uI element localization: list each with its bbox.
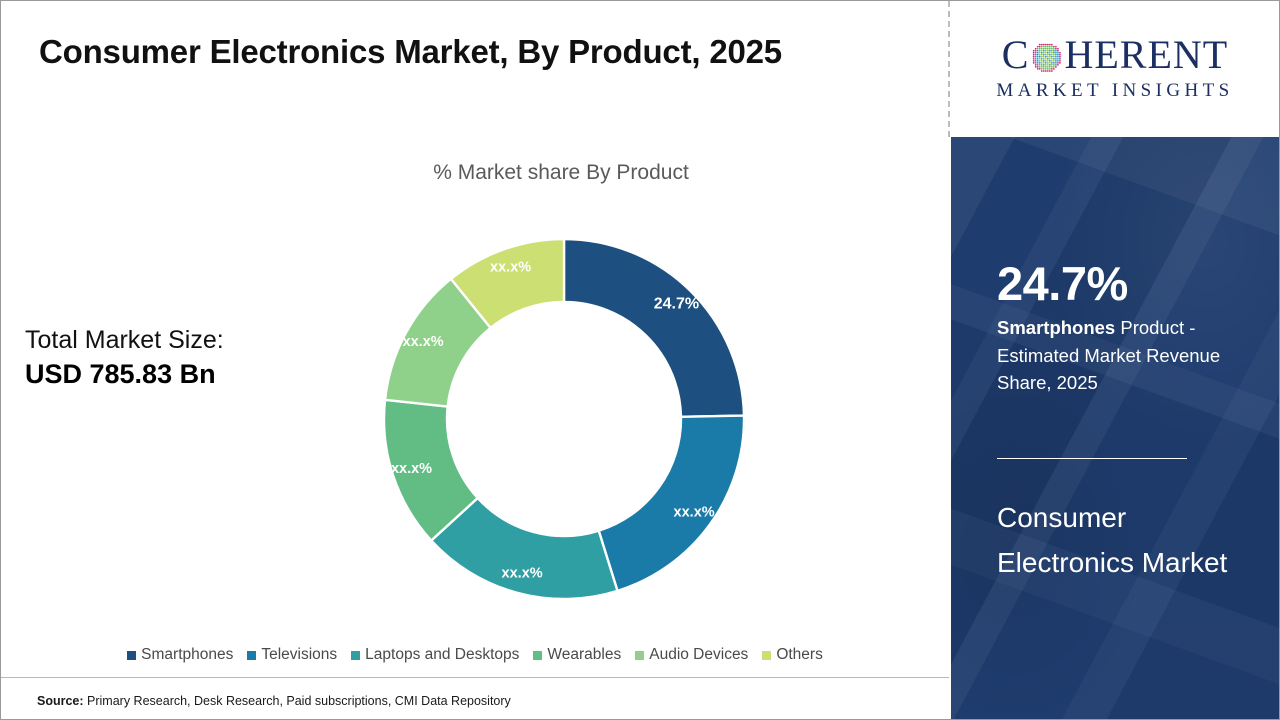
donut-slice-label: xx.x% [674,505,715,521]
donut-chart: 24.7%xx.x%xx.x%xx.x%xx.x%xx.x% [379,223,749,615]
legend-swatch-icon [533,651,542,660]
page-title: Consumer Electronics Market, By Product,… [39,33,919,71]
legend-swatch-icon [762,651,771,660]
highlight-stat-block: 24.7% Smartphones Product - Estimated Ma… [997,259,1247,396]
highlight-stat-percent: 24.7% [997,259,1247,308]
legend-swatch-icon [635,651,644,660]
source-label: Source: [37,694,84,708]
logo-word-rest: HERENT [1064,35,1228,75]
legend-item[interactable]: Wearables [533,646,621,664]
chart-pane: Consumer Electronics Market, By Product,… [1,1,949,719]
legend-item-label: Audio Devices [649,646,748,664]
donut-slice-label: xx.x% [391,461,432,477]
infographic-page: Consumer Electronics Market, By Product,… [0,0,1280,720]
legend-item[interactable]: Audio Devices [635,646,748,664]
vertical-dashed-divider [948,1,950,137]
sidebar-market-name: Consumer Electronics Market [997,496,1237,586]
donut-slice-label: xx.x% [490,260,531,276]
legend-item-label: Smartphones [141,646,233,664]
footer-divider [1,677,949,678]
legend-item[interactable]: Smartphones [127,646,233,664]
legend-item[interactable]: Others [762,646,823,664]
donut-slice-group [384,239,744,599]
logo-wordmark: C HERENT [1002,35,1228,75]
highlight-stat-caption-bold: Smartphones [997,317,1115,338]
legend-item[interactable]: Televisions [247,646,337,664]
legend-item[interactable]: Laptops and Desktops [351,646,519,664]
sidebar-background-texture [951,137,1279,719]
donut-slice[interactable] [564,239,744,417]
chart-legend: SmartphonesTelevisionsLaptops and Deskto… [1,646,949,664]
legend-swatch-icon [127,651,136,660]
sidebar-horizontal-rule [997,458,1187,459]
sidebar: C HERENT MARKET INSIGHTS 24.7% Smartphon… [951,1,1279,719]
donut-slice-label: 24.7% [654,296,699,313]
source-line: Source: Primary Research, Desk Research,… [37,694,511,708]
chart-subtitle: % Market share By Product [311,161,811,185]
logo-letter-c: C [1002,35,1030,75]
legend-item-label: Others [776,646,823,664]
total-market-size-block: Total Market Size: USD 785.83 Bn [25,324,305,393]
source-text: Primary Research, Desk Research, Paid su… [87,694,511,708]
donut-chart-svg: 24.7%xx.x%xx.x%xx.x%xx.x%xx.x% [379,223,749,615]
highlight-stat-caption: Smartphones Product - Estimated Market R… [997,314,1247,396]
donut-slice[interactable] [599,416,744,591]
legend-item-label: Wearables [547,646,621,664]
legend-swatch-icon [351,651,360,660]
legend-swatch-icon [247,651,256,660]
legend-item-label: Televisions [261,646,337,664]
dotted-globe-icon [1030,41,1063,74]
legend-item-label: Laptops and Desktops [365,646,519,664]
donut-slice-label: xx.x% [502,566,543,582]
brand-logo[interactable]: C HERENT MARKET INSIGHTS [951,1,1279,136]
total-market-size-value: USD 785.83 Bn [25,357,305,393]
logo-tagline: MARKET INSIGHTS [996,80,1233,102]
sidebar-panel: 24.7% Smartphones Product - Estimated Ma… [951,137,1279,719]
total-market-size-label: Total Market Size: [25,324,305,357]
donut-slice-label: xx.x% [403,334,444,350]
